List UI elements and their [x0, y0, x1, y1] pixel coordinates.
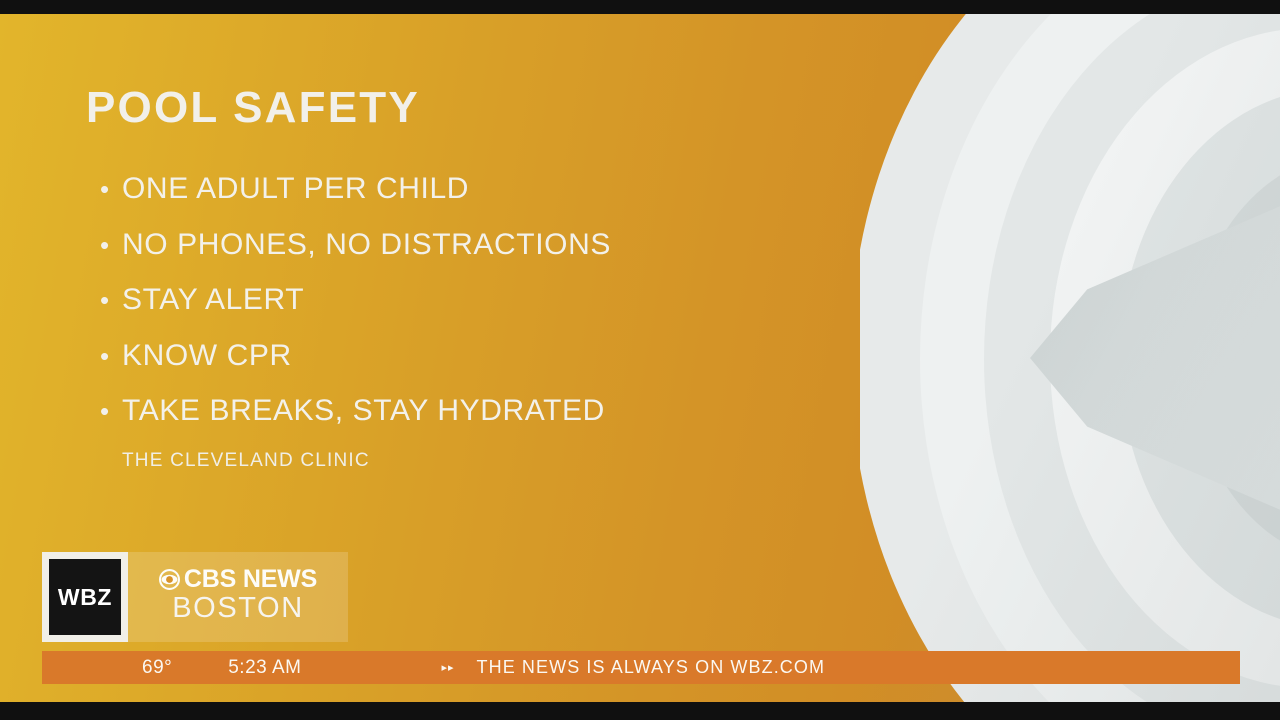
bullet-text: ONE ADULT PER CHILD	[122, 172, 469, 206]
bullet-text: KNOW CPR	[122, 339, 292, 373]
cbs-news-line: CBS NEWS	[159, 565, 317, 594]
bullet-dot-icon: •	[100, 176, 122, 202]
clock-readout: 5:23 AM	[228, 657, 301, 679]
page-title: POOL SAFETY	[86, 86, 760, 130]
double-arrow-icon: ▸▸	[441, 661, 454, 674]
list-item: • KNOW CPR	[86, 339, 760, 373]
video-frame: POOL SAFETY • ONE ADULT PER CHILD • NO P…	[0, 14, 1280, 702]
wbz-logo-inner: WBZ	[49, 559, 121, 635]
source-credit: THE CLEVELAND CLINIC	[122, 450, 760, 472]
bullet-dot-icon: •	[100, 287, 122, 313]
bullet-text: STAY ALERT	[122, 283, 304, 317]
cbs-news-panel: CBS NEWS BOSTON	[128, 552, 348, 642]
cbs-eye-icon	[159, 569, 180, 590]
temperature-readout: 69°	[142, 657, 172, 679]
letterbox-bottom	[0, 702, 1280, 720]
news-ticker-bar: 69° 5:23 AM ▸▸ THE NEWS IS ALWAYS ON WBZ…	[42, 651, 1240, 684]
cbs-news-text: CBS NEWS	[184, 565, 317, 594]
lower-third-branding: WBZ CBS NEWS BOSTON	[42, 552, 348, 642]
bullet-dot-icon: •	[100, 343, 122, 369]
wbz-station-logo: WBZ	[42, 552, 128, 642]
list-item: • TAKE BREAKS, STAY HYDRATED	[86, 394, 760, 428]
bullet-text: NO PHONES, NO DISTRACTIONS	[122, 228, 611, 262]
list-item: • ONE ADULT PER CHILD	[86, 172, 760, 206]
broadcast-screen: POOL SAFETY • ONE ADULT PER CHILD • NO P…	[0, 0, 1280, 720]
bullet-dot-icon: •	[100, 232, 122, 258]
bullet-dot-icon: •	[100, 398, 122, 424]
cbs-market-text: BOSTON	[172, 592, 304, 625]
bullet-list: • ONE ADULT PER CHILD • NO PHONES, NO DI…	[86, 172, 760, 428]
wbz-logo-text: WBZ	[58, 584, 112, 611]
list-item: • NO PHONES, NO DISTRACTIONS	[86, 228, 760, 262]
letterbox-top	[0, 0, 1280, 14]
bullet-text: TAKE BREAKS, STAY HYDRATED	[122, 394, 605, 428]
ticker-message: THE NEWS IS ALWAYS ON WBZ.COM	[477, 657, 826, 678]
list-item: • STAY ALERT	[86, 283, 760, 317]
concentric-rings-graphic	[860, 14, 1280, 702]
